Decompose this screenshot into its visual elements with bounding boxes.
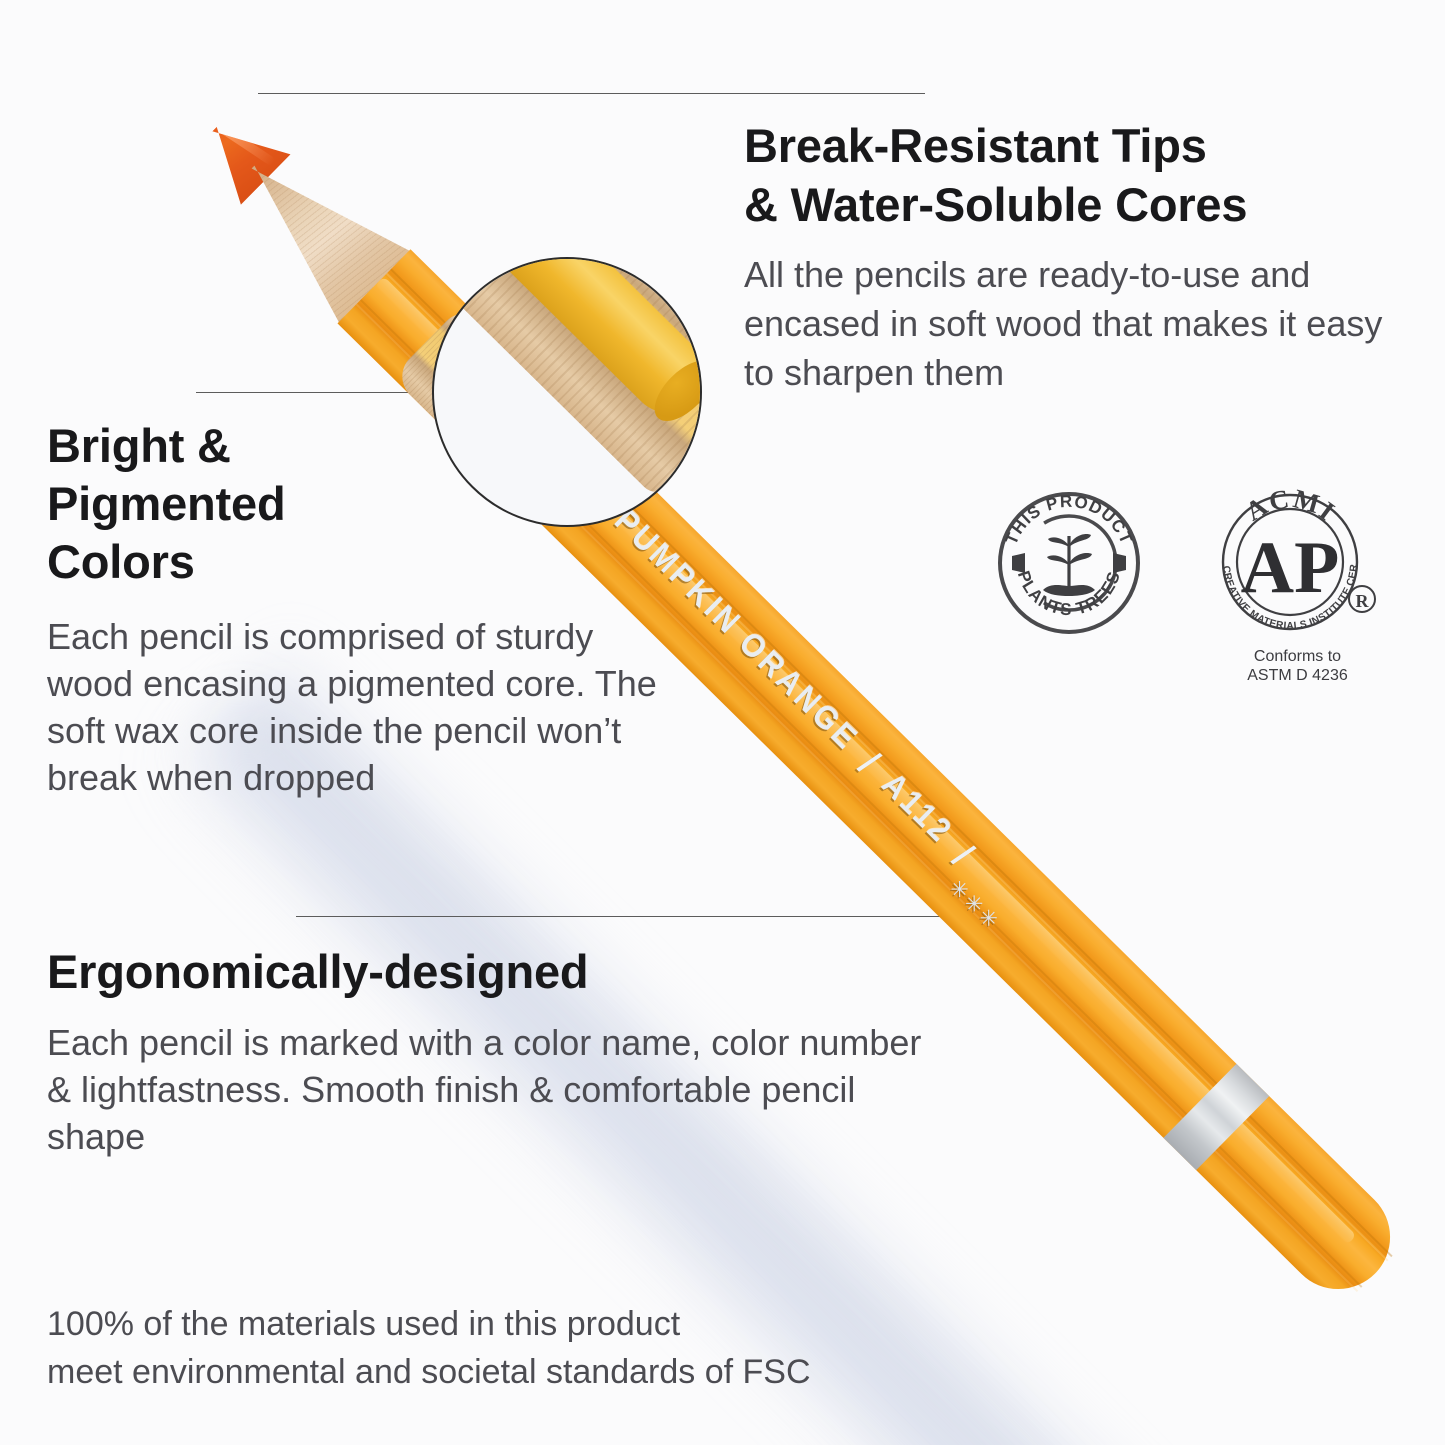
astm-conformance-text: Conforms to ASTM D 4236 <box>1215 647 1380 685</box>
heading-line-3: Colors <box>47 533 667 591</box>
feature-heading: Bright & Pigmented Colors <box>47 417 667 591</box>
svg-text:R: R <box>1356 591 1370 611</box>
feature-body: Each pencil is comprised of sturdy wood … <box>47 613 667 801</box>
feature-block-bright-pigmented: Bright & Pigmented Colors Each pencil is… <box>47 417 667 801</box>
heading-line-2: & Water-Soluble Cores <box>744 175 1384 234</box>
imprint-separator-icon <box>856 753 882 772</box>
plants-trees-badge-icon: THIS PRODUCT PLANTS TREES <box>995 489 1143 637</box>
heading-line-2: Pigmented <box>47 475 667 533</box>
feature-heading: Break-Resistant Tips & Water-Soluble Cor… <box>744 116 1384 234</box>
astm-line-2: ASTM D 4236 <box>1215 666 1380 685</box>
feature-heading: Ergonomically-designed <box>47 943 927 1001</box>
feature-block-ergonomic: Ergonomically-designed Each pencil is ma… <box>47 943 927 1160</box>
heading-line-1: Bright & <box>47 417 667 475</box>
leader-line-tip <box>258 93 925 94</box>
astm-line-1: Conforms to <box>1215 647 1380 666</box>
acmi-ap-badge: ACMI ART & CREATIVE MATERIALS INSTITUTE … <box>1215 489 1380 685</box>
feature-body: Each pencil is marked with a color name,… <box>47 1019 927 1160</box>
ap-center-text: AP <box>1241 527 1340 609</box>
feature-body: All the pencils are ready-to-use and enc… <box>744 250 1384 397</box>
feature-block-break-resistant: Break-Resistant Tips & Water-Soluble Cor… <box>744 116 1384 397</box>
fsc-line-2: meet environmental and societal standard… <box>47 1348 1117 1396</box>
tip-highlight <box>219 125 276 167</box>
certification-badges: THIS PRODUCT PLANTS TREES <box>995 489 1380 685</box>
registered-mark-icon: R <box>1349 586 1375 612</box>
infographic-canvas: PUMPKIN ORANGE A112 ✳✳✳ B <box>0 0 1445 1445</box>
heading-line-1: Ergonomically-designed <box>47 943 927 1001</box>
leader-line-core <box>196 392 436 393</box>
fsc-statement: 100% of the materials used in this produ… <box>47 1300 1117 1396</box>
heading-line-1: Break-Resistant Tips <box>744 116 1384 175</box>
acmi-ap-badge-icon: ACMI ART & CREATIVE MATERIALS INSTITUTE … <box>1215 489 1380 639</box>
fsc-line-1: 100% of the materials used in this produ… <box>47 1300 1117 1348</box>
